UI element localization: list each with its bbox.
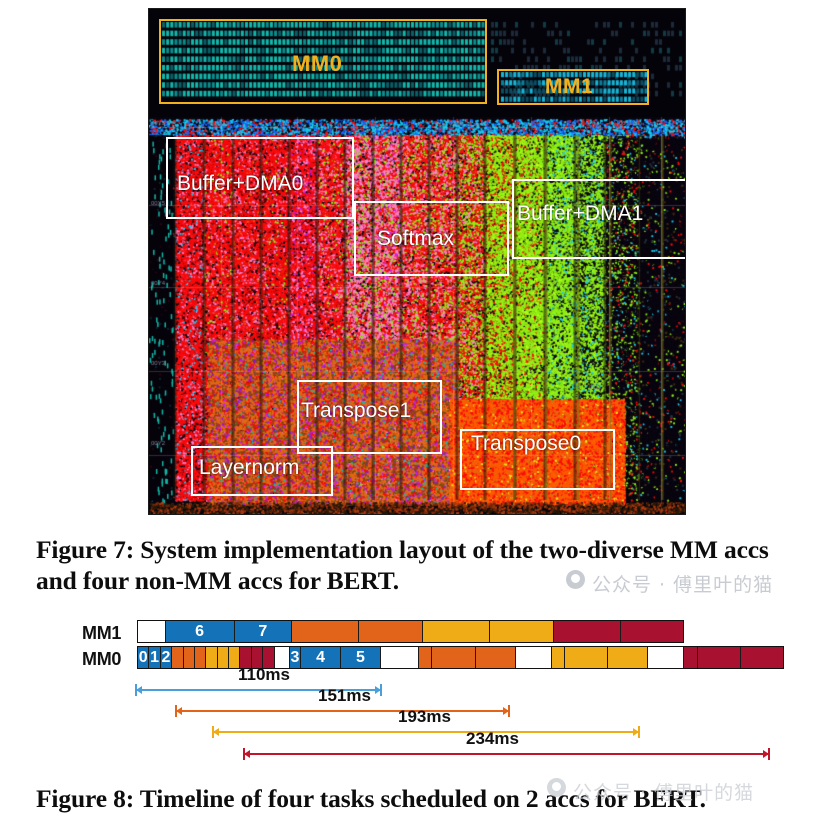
measurement-bar — [175, 705, 510, 717]
timeline-segment — [552, 647, 565, 668]
timeline-segment — [476, 647, 516, 668]
timeline-segment-label: 1 — [149, 647, 159, 668]
timeline-segment-label: 0 — [138, 647, 148, 668]
timeline-segment — [381, 647, 419, 668]
timeline-segment — [698, 647, 742, 668]
measurement-arrow-right-icon — [503, 707, 509, 715]
transpose0-label: Transpose0 — [471, 432, 581, 456]
layernorm-label: Layernorm — [199, 456, 299, 480]
watermark-logo-icon-bottom — [547, 778, 566, 797]
mm0-macro-label: MM0 — [292, 51, 342, 77]
timeline-segment — [218, 647, 229, 668]
timeline-segment — [608, 647, 648, 668]
measurement-arrow-right-icon — [375, 686, 381, 694]
timeline-segment — [292, 621, 359, 642]
measurement-arrow-left-icon — [136, 686, 142, 694]
transpose1-label: Transpose1 — [301, 399, 411, 423]
measurement-arrow-right-icon — [763, 750, 769, 758]
measurement-bar — [212, 726, 640, 738]
timeline-segment-label: 3 — [290, 647, 300, 668]
watermark-text-bottom: 公众号 · 傅里叶的猫 — [573, 778, 754, 805]
timeline-segment: 1 — [149, 647, 160, 668]
timeline-segment — [565, 647, 609, 668]
row-label-mm1: MM1 — [82, 623, 121, 644]
buffer-dma0-label: Buffer+DMA0 — [177, 172, 303, 196]
measurement-arrow-left-icon — [176, 707, 182, 715]
measurement-line — [212, 731, 640, 733]
timeline-segment — [423, 621, 490, 642]
timeline-segment — [648, 647, 684, 668]
timeline-track-mm1: 67 — [137, 620, 684, 643]
timeline-segment-label: 5 — [341, 647, 380, 668]
measurement-line — [175, 710, 510, 712]
timeline-segment — [684, 647, 697, 668]
timeline-segment: 7 — [235, 621, 292, 642]
timeline-segment — [419, 647, 432, 668]
measurement-arrow-left-icon — [244, 750, 250, 758]
row-label-mm0: MM0 — [82, 649, 121, 670]
watermark-text-top: 公众号 · 傅里叶的猫 — [592, 570, 773, 597]
timeline-segment — [432, 647, 476, 668]
measurement-arrow-right-icon — [633, 728, 639, 736]
timeline-segment — [195, 647, 206, 668]
timeline-segment — [621, 621, 683, 642]
timeline-segment — [741, 647, 783, 668]
softmax-label: Softmax — [377, 227, 454, 251]
timeline-segment-label: 7 — [235, 621, 291, 642]
mm1-macro-label: MM1 — [545, 75, 593, 99]
measurement-arrow-left-icon — [213, 728, 219, 736]
timeline-segment: 4 — [301, 647, 341, 668]
timeline-segment — [184, 647, 195, 668]
timeline-segment-label: 6 — [166, 621, 234, 642]
measurement-label: 234ms — [466, 729, 519, 749]
timeline-segment — [172, 647, 183, 668]
timeline-segment: 2 — [161, 647, 172, 668]
timeline-segment: 0 — [138, 647, 149, 668]
timeline-segment — [554, 621, 621, 642]
timeline-segment — [206, 647, 217, 668]
timeline-segment — [359, 621, 423, 642]
chip-layout-figure: MM0 MM1 Buffer+DMA0 Softmax Buffer+DMA1 … — [148, 8, 686, 515]
timeline-segment-label: 2 — [161, 647, 171, 668]
measurement-line — [243, 753, 770, 755]
timeline-segment-label: 4 — [301, 647, 340, 668]
measurement-label: 151ms — [318, 686, 371, 706]
timeline-segment: 3 — [290, 647, 301, 668]
timeline-segment: 6 — [166, 621, 235, 642]
buffer-dma1-label: Buffer+DMA1 — [517, 202, 643, 226]
timeline-segment: 5 — [341, 647, 381, 668]
measurement-label: 193ms — [398, 707, 451, 727]
timeline-segment — [138, 621, 166, 642]
timeline-track-mm0: 012345 — [137, 646, 784, 669]
timeline-segment — [490, 621, 554, 642]
watermark-logo-icon — [566, 570, 585, 589]
measurement-bar — [243, 748, 770, 760]
measurement-label: 110ms — [238, 665, 290, 685]
timeline-segment — [516, 647, 552, 668]
